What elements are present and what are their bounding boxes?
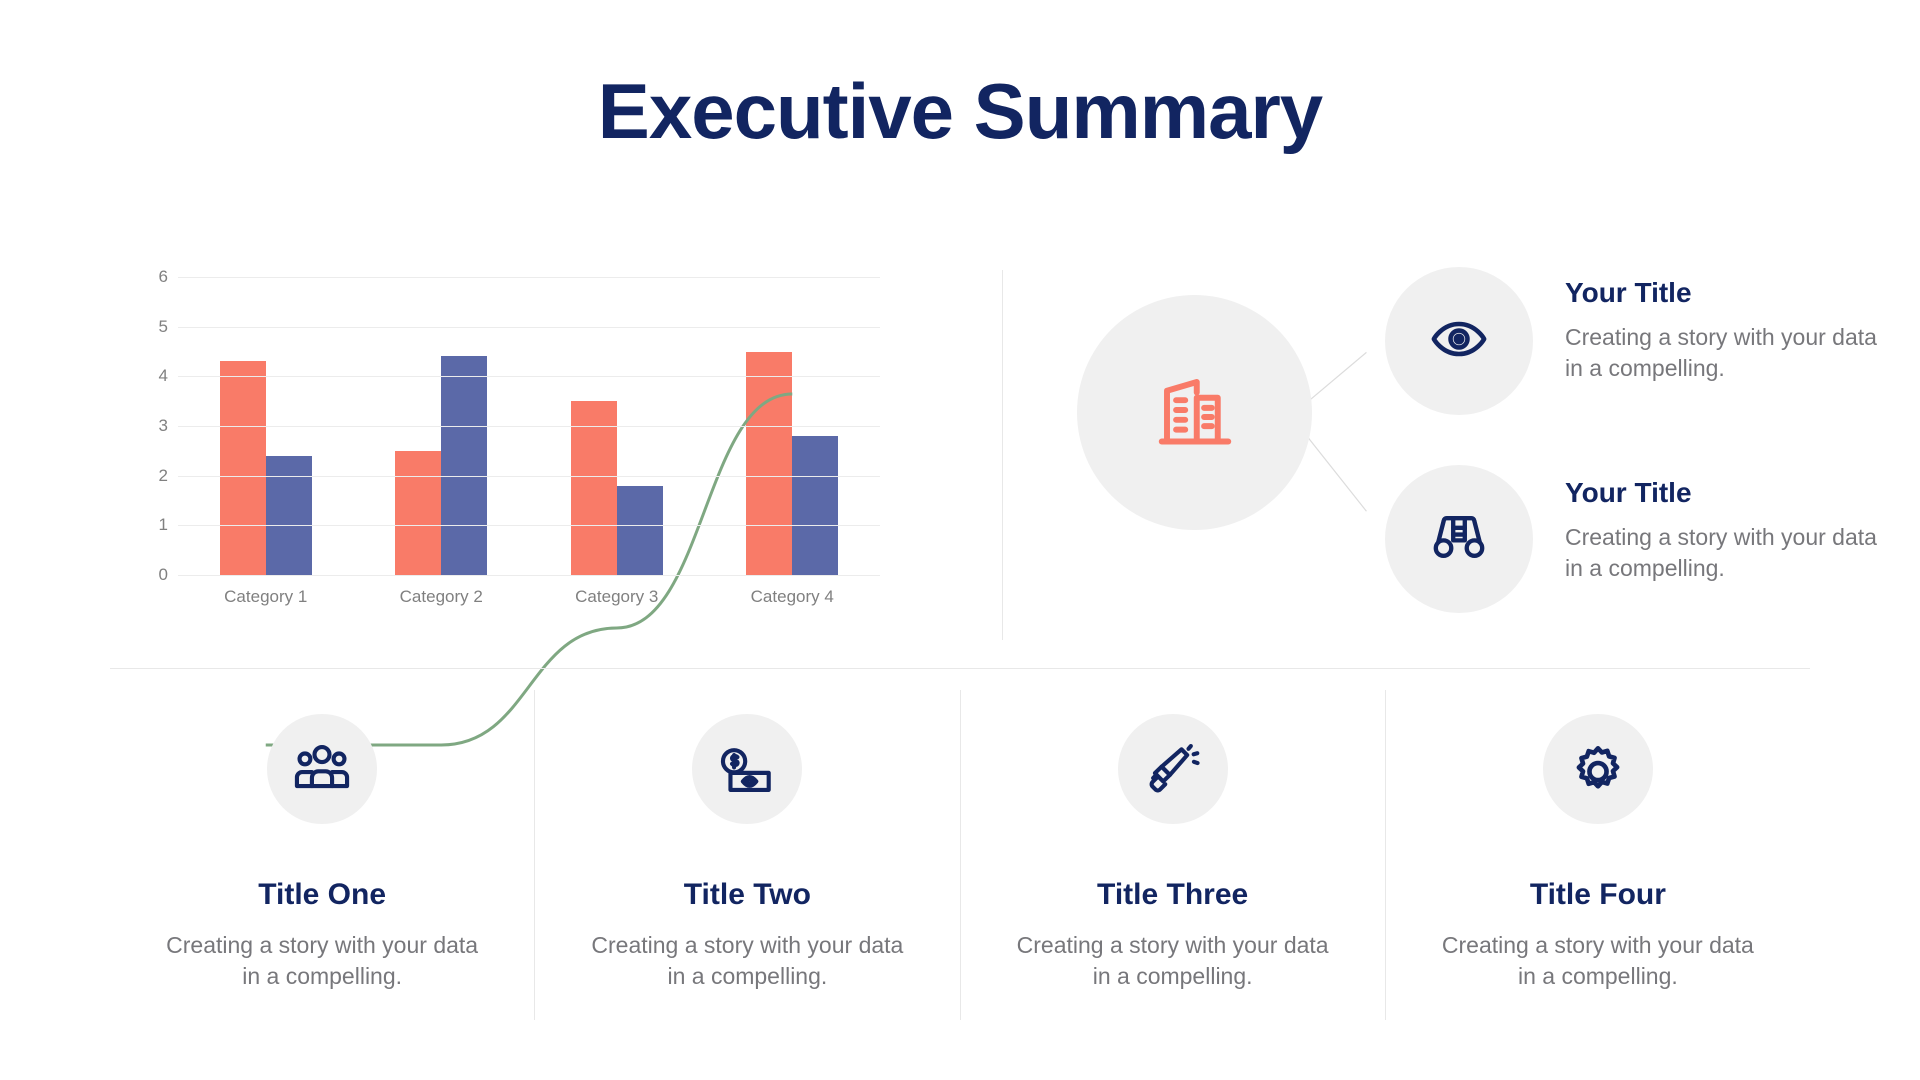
gridline [178, 376, 880, 377]
slide-root: Executive Summary 0123456 Category 1Cate… [0, 0, 1920, 1080]
diagram-node-2-text: Your Title Creating a story with your da… [1565, 477, 1895, 584]
diagram-node-1-desc: Creating a story with your data in a com… [1565, 322, 1895, 384]
feature-card-title: Title Three [1097, 878, 1248, 912]
gridline [178, 277, 880, 278]
people-group-icon [267, 714, 377, 824]
gridline [178, 476, 880, 477]
diagram-node-1[interactable] [1385, 267, 1533, 415]
y-axis-tick: 2 [138, 466, 168, 486]
megaphone-icon [1118, 714, 1228, 824]
gridline [178, 327, 880, 328]
horizontal-divider [110, 668, 1810, 669]
feature-card-3[interactable]: Title ThreeCreating a story with your da… [960, 690, 1385, 1020]
feature-cards: Title OneCreating a story with your data… [110, 690, 1810, 1020]
diagram-node-2-desc: Creating a story with your data in a com… [1565, 522, 1895, 584]
diagram-node-1-title: Your Title [1565, 277, 1895, 309]
bar[interactable] [792, 436, 838, 575]
money-cash-icon [692, 714, 802, 824]
x-axis-label: Category 2 [364, 587, 518, 607]
feature-card-desc: Creating a story with your data in a com… [162, 930, 482, 992]
feature-card-desc: Creating a story with your data in a com… [1013, 930, 1333, 992]
x-axis-label: Category 4 [715, 587, 869, 607]
diagram-node-2[interactable] [1385, 465, 1533, 613]
y-axis-tick: 0 [138, 565, 168, 585]
feature-card-desc: Creating a story with your data in a com… [1438, 930, 1758, 992]
chart-pane: 0123456 Category 1Category 2Category 3Ca… [110, 255, 950, 665]
vertical-divider [1002, 270, 1003, 640]
diagram-node-1-text: Your Title Creating a story with your da… [1565, 277, 1895, 384]
feature-card-2[interactable]: Title TwoCreating a story with your data… [534, 690, 959, 1020]
bar[interactable] [220, 361, 266, 575]
binoculars-icon [1430, 508, 1488, 571]
center-node[interactable] [1077, 295, 1312, 530]
gear-icon [1543, 714, 1653, 824]
bar[interactable] [746, 352, 792, 576]
feature-card-4[interactable]: Title FourCreating a story with your dat… [1385, 690, 1810, 1020]
page-title: Executive Summary [0, 72, 1920, 150]
feature-card-title: Title Four [1530, 878, 1666, 912]
y-axis-tick: 4 [138, 366, 168, 386]
feature-card-desc: Creating a story with your data in a com… [587, 930, 907, 992]
feature-card-title: Title Two [684, 878, 811, 912]
bar[interactable] [617, 486, 663, 575]
building-icon [1153, 368, 1237, 457]
gridline [178, 525, 880, 526]
eye-icon [1430, 310, 1488, 373]
gridline [178, 575, 880, 576]
top-region: 0123456 Category 1Category 2Category 3Ca… [110, 255, 1810, 665]
bar[interactable] [441, 356, 487, 575]
diagram-node-2-title: Your Title [1565, 477, 1895, 509]
x-axis-label: Category 1 [189, 587, 343, 607]
x-axis-labels: Category 1Category 2Category 3Category 4 [178, 587, 880, 607]
y-axis-tick: 5 [138, 317, 168, 337]
y-axis-tick: 1 [138, 515, 168, 535]
chart-plot-area: 0123456 [178, 277, 880, 575]
y-axis-tick: 3 [138, 416, 168, 436]
feature-card-title: Title One [258, 878, 386, 912]
bar[interactable] [266, 456, 312, 575]
y-axis-tick: 6 [138, 267, 168, 287]
gridline [178, 426, 880, 427]
combo-chart: 0123456 Category 1Category 2Category 3Ca… [130, 265, 920, 615]
bar[interactable] [395, 451, 441, 575]
bar[interactable] [571, 401, 617, 575]
diagram-pane: Your Title Creating a story with your da… [1055, 255, 1810, 665]
x-axis-label: Category 3 [540, 587, 694, 607]
feature-card-1[interactable]: Title OneCreating a story with your data… [110, 690, 534, 1020]
